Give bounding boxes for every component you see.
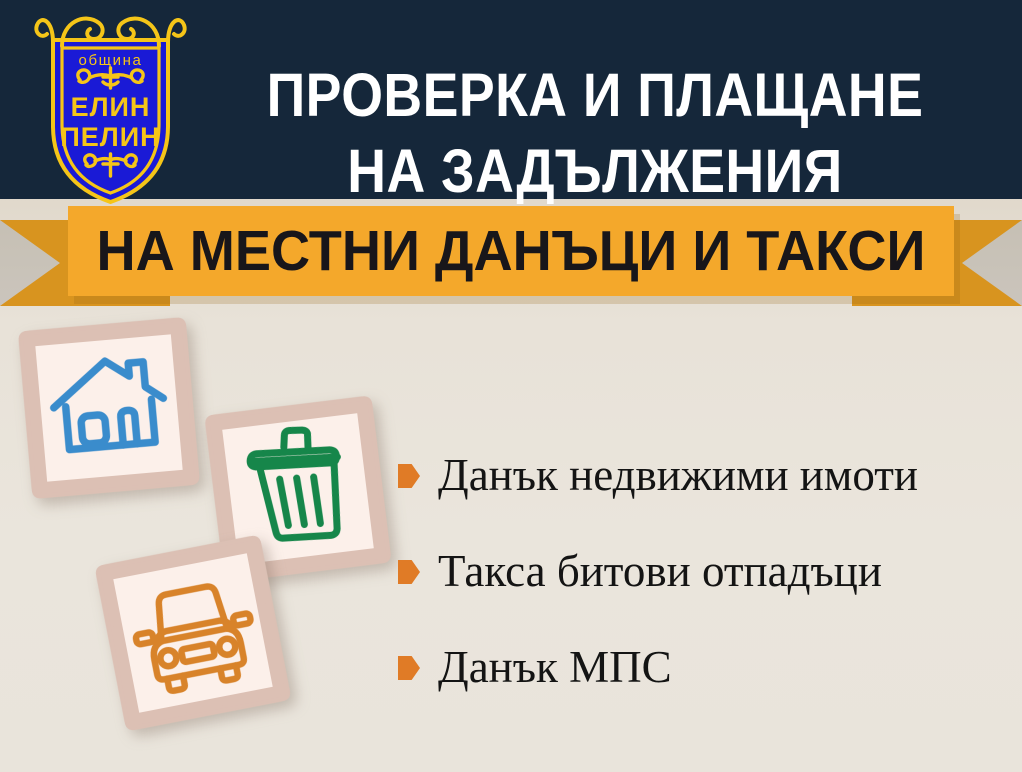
list-item-label: Данък недвижими имоти	[438, 452, 918, 499]
ribbon-banner: НА МЕСТНИ ДАНЪЦИ И ТАКСИ	[0, 198, 1022, 310]
arrow-bullet-icon	[398, 464, 420, 488]
list-item-label: Данък МПС	[438, 644, 672, 691]
page-title-line-1: ПРОВЕРКА И ПЛАЩАНЕ	[267, 61, 924, 129]
tax-type-list: Данък недвижими имоти Такса битови отпад…	[398, 428, 1018, 716]
stamp-card-real-estate	[8, 307, 210, 509]
svg-text:ЕЛИН: ЕЛИН	[71, 92, 151, 122]
arrow-bullet-icon	[398, 656, 420, 680]
ribbon-label: НА МЕСТНИ ДАНЪЦИ И ТАКСИ	[90, 206, 932, 296]
list-item[interactable]: Данък недвижими имоти	[398, 428, 1018, 524]
svg-text:ПЕЛИН: ПЕЛИН	[60, 122, 160, 152]
stamp-card-vehicle	[84, 524, 302, 742]
page-title-line-2: НА ЗАДЪЛЖЕНИЯ	[234, 133, 956, 209]
coat-of-arms-icon: община ЕЛИН ПЕЛИН	[33, 6, 188, 206]
arrow-bullet-icon	[398, 560, 420, 584]
page-title: ПРОВЕРКА И ПЛАЩАНЕ НА ЗАДЪЛЖЕНИЯ	[234, 57, 956, 209]
municipality-logo: община ЕЛИН ПЕЛИН	[33, 6, 188, 206]
list-item-label: Такса битови отпадъци	[438, 548, 882, 595]
list-item[interactable]: Данък МПС	[398, 620, 1018, 716]
list-item[interactable]: Такса битови отпадъци	[398, 524, 1018, 620]
poster-canvas: НА МЕСТНИ ДАНЪЦИ И ТАКСИ ПРОВЕРКА И ПЛАЩ…	[0, 0, 1022, 772]
